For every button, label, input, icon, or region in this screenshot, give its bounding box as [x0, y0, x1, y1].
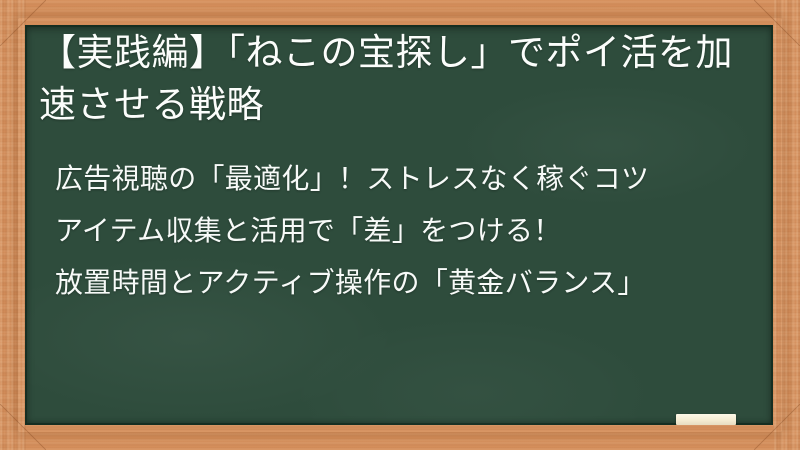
chalkboard-surface: 【実践編】「ねこの宝探し」でポイ活を加速させる戦略 広告視聴の「最適化」！ストレ… — [25, 25, 773, 425]
subpoint-item: 放置時間とアクティブ操作の「黄金バランス」 — [55, 257, 755, 309]
chalk-stick — [676, 414, 736, 425]
subpoint-item: 広告視聴の「最適化」！ストレスなく稼ぐコツ — [55, 153, 755, 205]
blackboard-scene: 【実践編】「ねこの宝探し」でポイ活を加速させる戦略 広告視聴の「最適化」！ストレ… — [0, 0, 800, 450]
wood-frame-left-grain — [0, 0, 26, 450]
subpoint-list: 広告視聴の「最適化」！ストレスなく稼ぐコツ アイテム収集と活用で「差」をつける！… — [55, 153, 755, 309]
headline-text: 【実践編】「ねこの宝探し」でポイ活を加速させる戦略 — [39, 27, 757, 131]
chalkboard-content: 【実践編】「ねこの宝探し」でポイ活を加速させる戦略 広告視聴の「最適化」！ストレ… — [25, 25, 773, 425]
subpoint-item: アイテム収集と活用で「差」をつける！ — [55, 205, 755, 257]
wood-frame-right-grain — [774, 0, 800, 450]
